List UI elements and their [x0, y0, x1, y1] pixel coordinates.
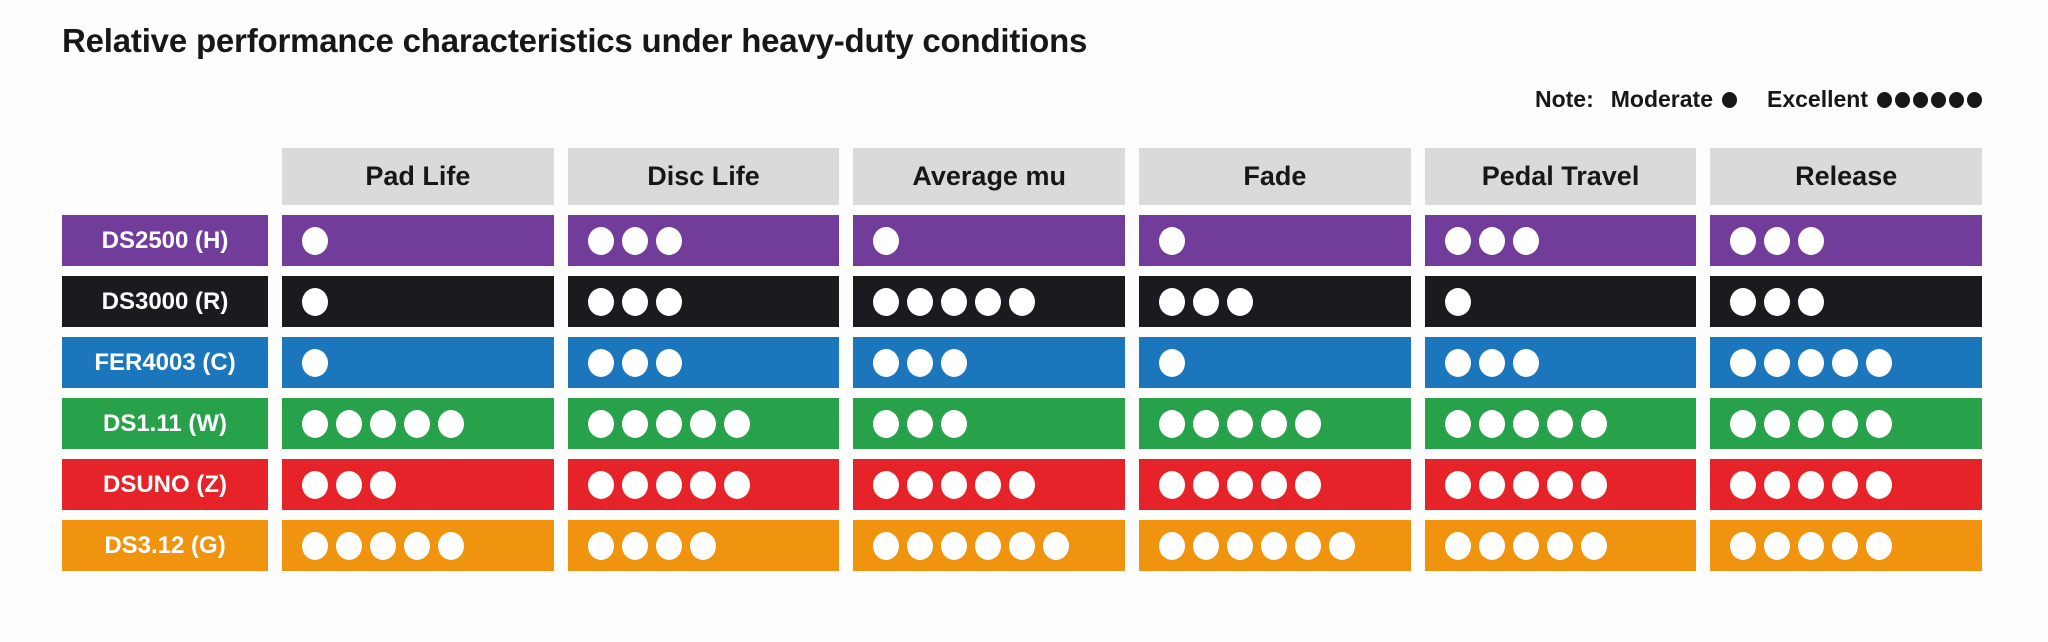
rating-dots [1159, 471, 1321, 499]
column-header-label: Disc Life [647, 161, 760, 192]
row-label-fer4003-c[interactable]: FER4003 (C) [62, 337, 268, 388]
rating-dot [1295, 410, 1321, 438]
rating-dot [1159, 471, 1185, 499]
rating-dot [588, 227, 614, 255]
rating-dot [907, 471, 933, 499]
rating-dot [1227, 288, 1253, 316]
rating-dots [1730, 471, 1892, 499]
rating-cell[interactable] [568, 459, 840, 510]
legend-entry-label: Excellent [1767, 86, 1868, 113]
rating-dot [873, 288, 899, 316]
column-header-average-mu[interactable]: Average mu [853, 148, 1125, 205]
rating-dot [1513, 349, 1539, 377]
rating-dot [1764, 410, 1790, 438]
rating-dots [1445, 288, 1471, 316]
rating-cell[interactable] [1139, 520, 1411, 571]
legend-dots-excellent [1877, 92, 1982, 108]
rating-dot [1159, 532, 1185, 560]
rating-dot [724, 471, 750, 499]
rating-dot [588, 410, 614, 438]
rating-cell[interactable] [1710, 215, 1982, 266]
rating-dot [1295, 532, 1321, 560]
rating-dot [690, 471, 716, 499]
rating-dot [941, 288, 967, 316]
rating-dot [622, 288, 648, 316]
rating-dot [656, 471, 682, 499]
column-header-label: Pedal Travel [1482, 161, 1640, 192]
rating-cell[interactable] [568, 520, 840, 571]
row-label-text: DS1.11 (W) [103, 410, 227, 438]
rating-dots [1445, 532, 1607, 560]
row-label-text: DS3.12 (G) [104, 532, 225, 560]
rating-dot [1513, 532, 1539, 560]
rating-dot [302, 410, 328, 438]
rating-dot [404, 410, 430, 438]
rating-dot [1445, 349, 1471, 377]
rating-dot [1581, 410, 1607, 438]
rating-cell[interactable] [853, 276, 1125, 327]
rating-dots [588, 349, 682, 377]
rating-dots [1445, 349, 1539, 377]
rating-dot [1009, 471, 1035, 499]
rating-dot [1193, 410, 1219, 438]
legend-dot [1931, 92, 1946, 108]
legend-note-label: Note: [1535, 86, 1594, 113]
rating-dots [1730, 288, 1824, 316]
rating-dot [656, 227, 682, 255]
rating-dot [656, 410, 682, 438]
rating-dot [907, 349, 933, 377]
rating-dot [1764, 349, 1790, 377]
rating-dots [588, 227, 682, 255]
row-label-text: DS3000 (R) [102, 288, 229, 316]
rating-dot [588, 288, 614, 316]
rating-dot [1043, 532, 1069, 560]
rating-dot [975, 471, 1001, 499]
legend: Note: Moderate Excellent [1535, 86, 1982, 113]
row-label-text: DSUNO (Z) [103, 471, 227, 499]
rating-dots [873, 532, 1069, 560]
table-row: DS2500 (H) [62, 215, 1982, 266]
rating-cell[interactable] [568, 276, 840, 327]
rating-dot [1866, 349, 1892, 377]
rating-dot [404, 532, 430, 560]
rating-dot [873, 532, 899, 560]
rating-dot [370, 532, 396, 560]
table-row: DS1.11 (W) [62, 398, 1982, 449]
chart-title: Relative performance characteristics und… [62, 22, 1087, 60]
rating-dot [1581, 471, 1607, 499]
legend-entry-label: Moderate [1611, 86, 1713, 113]
rating-cell[interactable] [853, 459, 1125, 510]
rating-dot [1009, 532, 1035, 560]
rating-dot [302, 471, 328, 499]
rating-dots [588, 532, 716, 560]
rating-dots [873, 227, 899, 255]
rating-dots [1730, 227, 1824, 255]
rating-dot [656, 288, 682, 316]
rating-dot [588, 532, 614, 560]
legend-dot [1913, 92, 1928, 108]
legend-dot [1877, 92, 1892, 108]
rating-dots [1159, 532, 1355, 560]
rating-dots [1730, 349, 1892, 377]
rating-dots [873, 471, 1035, 499]
rating-dots [588, 288, 682, 316]
header-corner-spacer [62, 148, 268, 205]
rating-cell[interactable] [282, 459, 554, 510]
rating-cell[interactable] [1425, 276, 1697, 327]
rating-dot [1730, 410, 1756, 438]
rating-cell[interactable] [1710, 398, 1982, 449]
rating-dot [724, 410, 750, 438]
rating-dot [656, 349, 682, 377]
rating-cell[interactable] [282, 337, 554, 388]
rating-dot [1764, 288, 1790, 316]
rating-dot [1730, 349, 1756, 377]
rating-dots [302, 349, 328, 377]
rating-dot [336, 410, 362, 438]
table-row: FER4003 (C) [62, 337, 1982, 388]
rating-dot [1798, 410, 1824, 438]
column-header-pad-life[interactable]: Pad Life [282, 148, 554, 205]
rating-dot [690, 532, 716, 560]
rating-dot [873, 410, 899, 438]
ratings-matrix: Pad LifeDisc LifeAverage muFadePedal Tra… [62, 148, 1982, 571]
rating-dots [1159, 227, 1185, 255]
rating-cell[interactable] [568, 337, 840, 388]
rating-cell[interactable] [1425, 215, 1697, 266]
rating-dot [1730, 471, 1756, 499]
table-row: DSUNO (Z) [62, 459, 1982, 510]
rating-dot [1479, 227, 1505, 255]
rating-dot [1227, 410, 1253, 438]
rating-dot [1866, 471, 1892, 499]
rating-dot [1261, 471, 1287, 499]
rating-cell[interactable] [568, 215, 840, 266]
legend-entry-moderate: Moderate [1611, 86, 1737, 113]
rating-dots [1445, 410, 1607, 438]
rating-dot [1547, 410, 1573, 438]
rating-dot [1445, 288, 1471, 316]
rating-cell[interactable] [1139, 398, 1411, 449]
rating-dot [1159, 349, 1185, 377]
rating-dot [1479, 349, 1505, 377]
rating-dot [1832, 471, 1858, 499]
rating-dot [1764, 532, 1790, 560]
rating-dot [622, 532, 648, 560]
rating-dot [1832, 532, 1858, 560]
rating-dots [1445, 471, 1607, 499]
rating-dot [873, 349, 899, 377]
rating-dot [1730, 288, 1756, 316]
rating-cell[interactable] [853, 215, 1125, 266]
rating-cell[interactable] [1139, 459, 1411, 510]
rating-cell[interactable] [1139, 215, 1411, 266]
row-label-ds2500-h[interactable]: DS2500 (H) [62, 215, 268, 266]
row-label-ds3-12-g[interactable]: DS3.12 (G) [62, 520, 268, 571]
rating-dot [690, 410, 716, 438]
rating-dot [1547, 471, 1573, 499]
rating-dot [1764, 227, 1790, 255]
rating-dot [588, 349, 614, 377]
rating-dot [941, 349, 967, 377]
rating-dot [1159, 227, 1185, 255]
column-header-label: Fade [1243, 161, 1306, 192]
rating-dot [438, 410, 464, 438]
rating-dot [656, 532, 682, 560]
rating-cell[interactable] [1425, 398, 1697, 449]
legend-dots-moderate [1722, 92, 1737, 108]
rating-dot [907, 532, 933, 560]
rating-dot [1227, 532, 1253, 560]
rating-cell[interactable] [853, 398, 1125, 449]
rating-dots [588, 410, 750, 438]
rating-dot [1798, 349, 1824, 377]
row-label-text: FER4003 (C) [94, 349, 235, 377]
rating-dot [302, 532, 328, 560]
rating-dot [941, 471, 967, 499]
rating-dots [873, 288, 1035, 316]
rating-dot [336, 532, 362, 560]
rating-dot [1261, 410, 1287, 438]
rating-cell[interactable] [282, 215, 554, 266]
row-label-text: DS2500 (H) [102, 227, 229, 255]
rating-dot [1009, 288, 1035, 316]
rating-dot [873, 227, 899, 255]
rating-dot [588, 471, 614, 499]
rating-dots [302, 227, 328, 255]
rating-dot [975, 288, 1001, 316]
rating-dot [1581, 532, 1607, 560]
rating-dot [622, 227, 648, 255]
rating-dot [622, 349, 648, 377]
column-header-release[interactable]: Release [1710, 148, 1982, 205]
rating-dot [1479, 532, 1505, 560]
rating-dot [1513, 410, 1539, 438]
rating-dots [873, 410, 967, 438]
rating-cell[interactable] [568, 398, 840, 449]
rating-dot [873, 471, 899, 499]
rating-dot [1193, 288, 1219, 316]
rating-dot [370, 410, 396, 438]
rating-dots [588, 471, 750, 499]
rating-dots [1159, 349, 1185, 377]
rating-dot [1866, 532, 1892, 560]
rating-dot [1159, 410, 1185, 438]
rating-dot [1764, 471, 1790, 499]
table-header-row: Pad LifeDisc LifeAverage muFadePedal Tra… [62, 148, 1982, 205]
rating-dot [1513, 471, 1539, 499]
rating-cell[interactable] [282, 276, 554, 327]
rating-dot [1730, 227, 1756, 255]
rating-dot [1798, 532, 1824, 560]
rating-dots [302, 410, 464, 438]
rating-cell[interactable] [1425, 459, 1697, 510]
legend-dot [1895, 92, 1910, 108]
rating-dot [302, 227, 328, 255]
legend-dot [1949, 92, 1964, 108]
rating-cell[interactable] [1425, 520, 1697, 571]
rating-dot [1798, 471, 1824, 499]
rating-dot [438, 532, 464, 560]
rating-dot [1445, 471, 1471, 499]
rating-cell[interactable] [1710, 337, 1982, 388]
rating-dot [1513, 227, 1539, 255]
row-label-ds1-11-w[interactable]: DS1.11 (W) [62, 398, 268, 449]
rating-dot [622, 471, 648, 499]
rating-dot [370, 471, 396, 499]
rating-cell[interactable] [1710, 520, 1982, 571]
rating-dot [1798, 288, 1824, 316]
rating-dot [975, 532, 1001, 560]
rating-cell[interactable] [853, 520, 1125, 571]
rating-dot [1798, 227, 1824, 255]
rating-dot [1193, 532, 1219, 560]
column-header-label: Release [1795, 161, 1897, 192]
legend-dot [1967, 92, 1982, 108]
legend-entry-excellent: Excellent [1767, 86, 1982, 113]
rating-dot [1547, 532, 1573, 560]
rating-dot [1159, 288, 1185, 316]
rating-dots [1730, 410, 1892, 438]
rating-dots [302, 532, 464, 560]
rating-dot [907, 288, 933, 316]
rating-dot [1832, 410, 1858, 438]
rating-dot [1479, 471, 1505, 499]
rating-dot [1832, 349, 1858, 377]
rating-dot [302, 288, 328, 316]
rating-dots [302, 471, 396, 499]
rating-dot [1445, 227, 1471, 255]
row-label-dsuno-z[interactable]: DSUNO (Z) [62, 459, 268, 510]
rating-dots [1159, 288, 1253, 316]
row-label-ds3000-r[interactable]: DS3000 (R) [62, 276, 268, 327]
rating-cell[interactable] [1139, 276, 1411, 327]
rating-cell[interactable] [282, 398, 554, 449]
rating-dot [1261, 532, 1287, 560]
performance-matrix-chart: Relative performance characteristics und… [0, 0, 2048, 642]
legend-dot [1722, 92, 1737, 108]
rating-dot [302, 349, 328, 377]
rating-dot [1227, 471, 1253, 499]
rating-dot [1445, 532, 1471, 560]
rating-cell[interactable] [853, 337, 1125, 388]
rating-cell[interactable] [1425, 337, 1697, 388]
rating-cell[interactable] [282, 520, 554, 571]
column-header-label: Pad Life [365, 161, 470, 192]
rating-dots [1159, 410, 1321, 438]
rating-cell[interactable] [1139, 337, 1411, 388]
rating-dots [302, 288, 328, 316]
rating-dot [941, 532, 967, 560]
rating-dot [1193, 471, 1219, 499]
column-header-label: Average mu [912, 161, 1066, 192]
rating-dot [1445, 410, 1471, 438]
rating-dot [1329, 532, 1355, 560]
rating-dot [1866, 410, 1892, 438]
rating-dot [941, 410, 967, 438]
rating-cell[interactable] [1710, 276, 1982, 327]
rating-dot [1479, 410, 1505, 438]
column-header-fade[interactable]: Fade [1139, 148, 1411, 205]
column-header-pedal-travel[interactable]: Pedal Travel [1425, 148, 1697, 205]
rating-dots [873, 349, 967, 377]
rating-cell[interactable] [1710, 459, 1982, 510]
rating-dot [622, 410, 648, 438]
table-row: DS3.12 (G) [62, 520, 1982, 571]
rating-dot [907, 410, 933, 438]
rating-dot [1295, 471, 1321, 499]
rating-dot [336, 471, 362, 499]
rating-dots [1730, 532, 1892, 560]
column-header-disc-life[interactable]: Disc Life [568, 148, 840, 205]
rating-dot [1730, 532, 1756, 560]
table-row: DS3000 (R) [62, 276, 1982, 327]
rating-dots [1445, 227, 1539, 255]
